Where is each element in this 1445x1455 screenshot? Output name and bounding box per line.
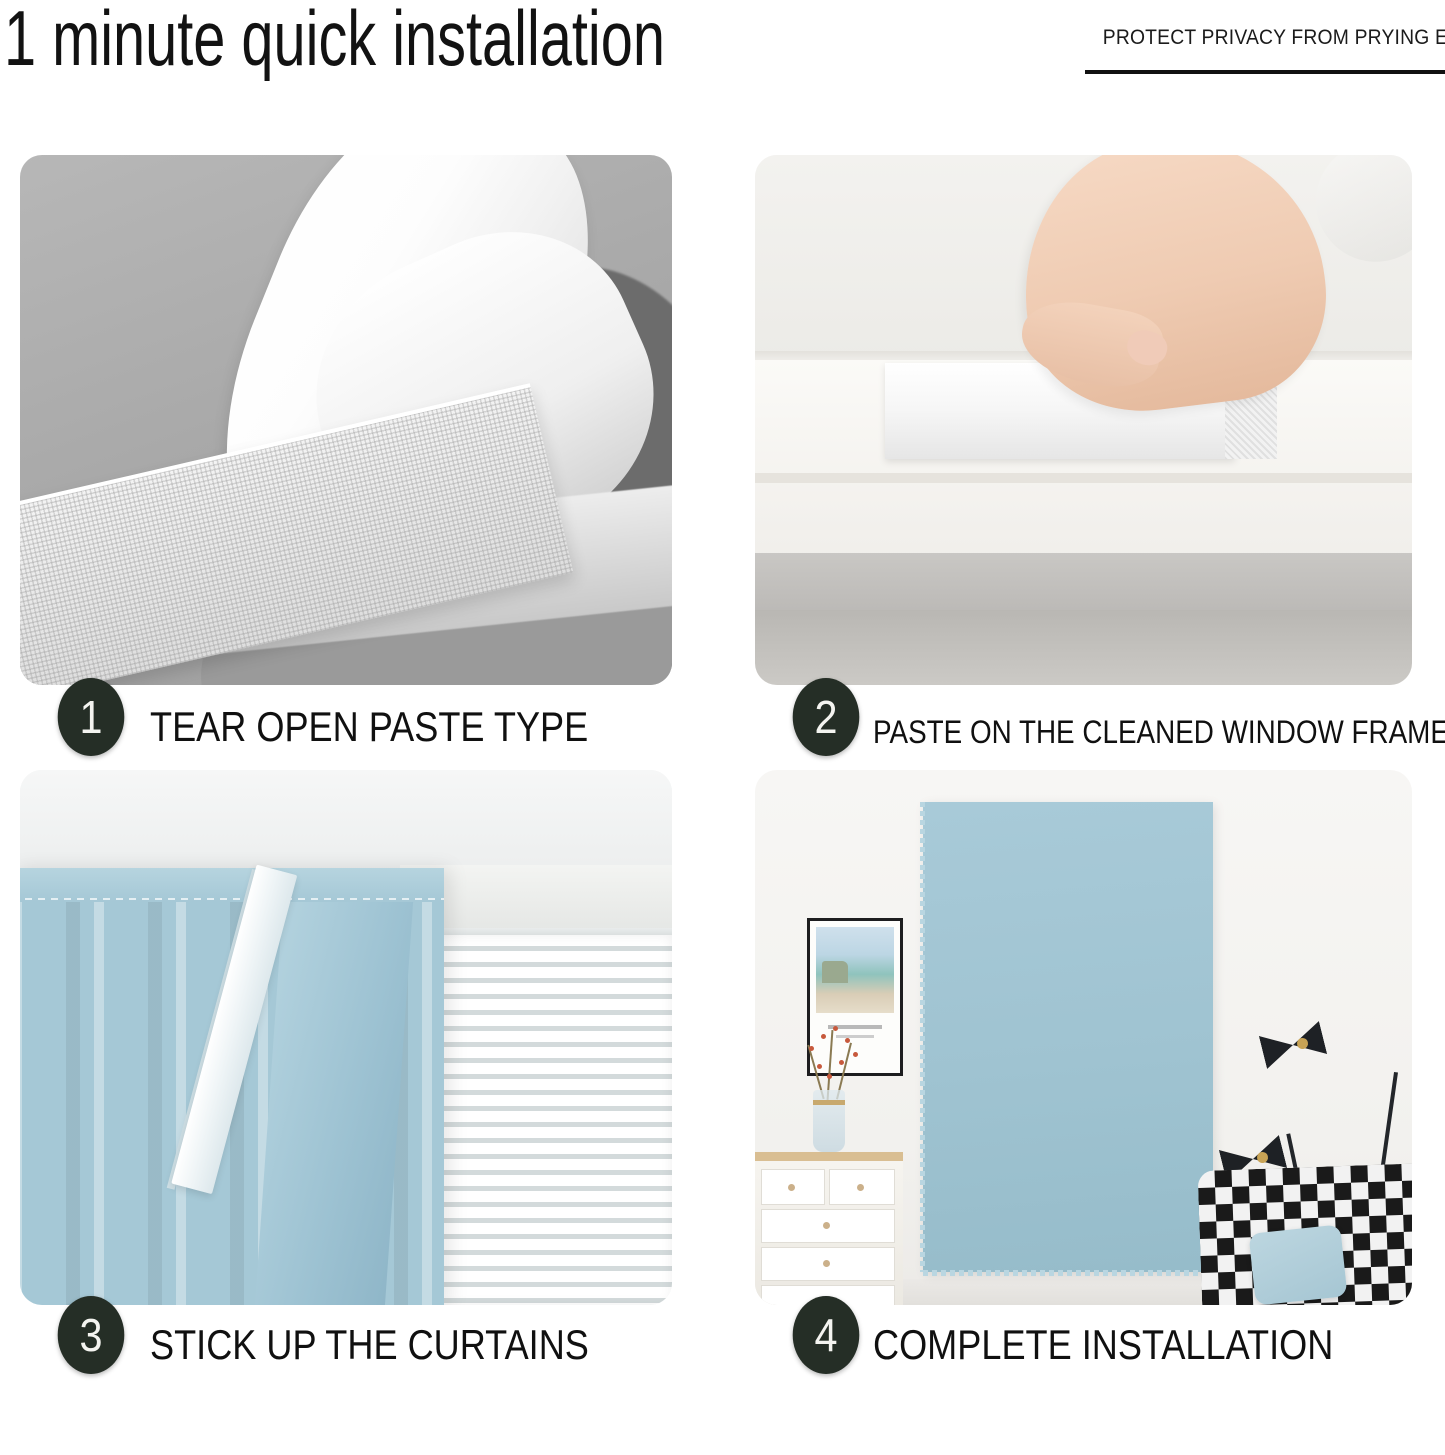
- steps-grid: 1 TEAR OPEN PASTE TYPE: [0, 150, 1445, 1455]
- step-card-4: 4 COMPLETE INSTALLATION: [755, 770, 1412, 1388]
- infographic-page: 1 minute quick installation PROTECT PRIV…: [0, 0, 1445, 1455]
- step-3-caption: STICK UP THE CURTAINS: [150, 1322, 589, 1368]
- step-2-caption-bar: 2 PASTE ON THE CLEANED WINDOW FRAME: [755, 684, 1412, 770]
- step-2-photo: [755, 155, 1412, 685]
- wall-lower-shade: [755, 610, 1412, 685]
- step-3-badge: 3: [58, 1296, 125, 1374]
- step-1-photo: [20, 155, 672, 685]
- step-3-photo: [20, 770, 672, 1305]
- installed-blackout-curtain: [923, 802, 1213, 1272]
- venetian-blinds: [418, 935, 672, 1305]
- step-4-photo: [755, 770, 1412, 1305]
- step-1-caption-bar: 1 TEAR OPEN PASTE TYPE: [20, 684, 672, 770]
- tagline-text: PROTECT PRIVACY FROM PRYING EYES: [1103, 26, 1445, 50]
- window-frame-lip: [755, 473, 1412, 483]
- step-1-badge: 1: [58, 678, 125, 756]
- dresser: [755, 1152, 903, 1305]
- step-2-caption: PASTE ON THE CLEANED WINDOW FRAME: [873, 714, 1445, 750]
- step-3-caption-bar: 3 STICK UP THE CURTAINS: [20, 1302, 672, 1388]
- dried-branches: [799, 1020, 863, 1098]
- page-title: 1 minute quick installation: [4, 0, 665, 80]
- vase-band: [813, 1100, 845, 1105]
- tagline-block: PROTECT PRIVACY FROM PRYING EYES: [1073, 26, 1445, 50]
- artwork-image: [816, 927, 894, 1013]
- ceiling-band: [20, 770, 672, 875]
- step-4-caption: COMPLETE INSTALLATION: [873, 1322, 1333, 1368]
- step-2-badge: 2: [793, 678, 860, 756]
- tagline-divider: [1085, 70, 1445, 74]
- step-card-2: 2 PASTE ON THE CLEANED WINDOW FRAME: [755, 155, 1412, 770]
- step-card-1: 1 TEAR OPEN PASTE TYPE: [20, 155, 672, 770]
- curtain-stitch-line: [20, 898, 444, 900]
- step-4-badge: 4: [793, 1296, 860, 1374]
- step-1-caption: TEAR OPEN PASTE TYPE: [150, 704, 588, 750]
- lamp-shade-upper: [1259, 1021, 1327, 1069]
- header: 1 minute quick installation PROTECT PRIV…: [0, 0, 1445, 150]
- curtain-header-band: [20, 868, 444, 902]
- step-4-caption-bar: 4 COMPLETE INSTALLATION: [755, 1302, 1412, 1388]
- blue-cushion: [1248, 1224, 1347, 1305]
- step-card-3: 3 STICK UP THE CURTAINS: [20, 770, 672, 1388]
